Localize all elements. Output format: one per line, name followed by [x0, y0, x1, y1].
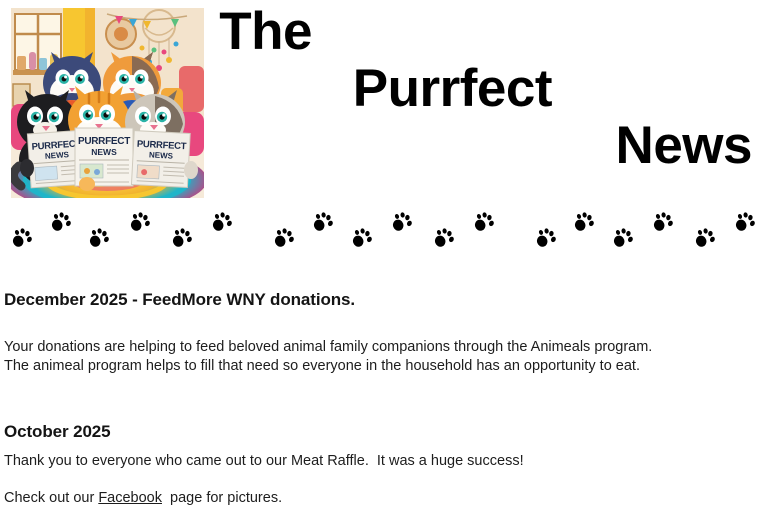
newspaper-right: PURRFECT NEWS	[131, 131, 190, 188]
article-heading: October 2025	[4, 422, 763, 442]
paw-print-icon	[212, 212, 234, 233]
link-line-prefix: Check out our	[4, 490, 98, 506]
svg-text:NEWS: NEWS	[45, 150, 70, 161]
paw-print-icon	[12, 228, 34, 249]
hero-photo-illustration: PURRFECT NEWS PURRFECT NEWS	[11, 8, 204, 198]
paw-print-divider	[0, 204, 767, 264]
paw-print-icon	[313, 212, 335, 233]
paw-print-icon	[392, 212, 414, 233]
masthead: PURRFECT NEWS PURRFECT NEWS	[0, 0, 767, 200]
paw-print-icon	[613, 228, 635, 249]
paw-print-icon	[536, 228, 558, 249]
article-link-line: Check out our Facebook page for pictures…	[4, 489, 763, 508]
masthead-title-line-3: News	[210, 120, 760, 172]
svg-text:NEWS: NEWS	[149, 150, 174, 160]
newspaper-center: PURRFECT NEWS	[75, 128, 133, 186]
masthead-title: The Purrfect News	[210, 6, 760, 172]
article-heading: December 2025 - FeedMore WNY donations.	[4, 290, 763, 310]
newsletter-content: December 2025 - FeedMore WNY donations. …	[0, 290, 767, 508]
article-paragraph: Thank you to everyone who came out to ou…	[4, 452, 763, 471]
paw-print-icon	[51, 212, 73, 233]
article-december-2025: December 2025 - FeedMore WNY donations. …	[0, 290, 767, 376]
paw-print-icon	[274, 228, 296, 249]
facebook-link[interactable]: Facebook	[98, 490, 162, 506]
masthead-title-line-2: Purrfect	[210, 63, 760, 115]
paw-print-icon	[434, 228, 456, 249]
paw-print-icon	[89, 228, 111, 249]
hero-photo-cats-reading-news: PURRFECT NEWS PURRFECT NEWS	[11, 8, 204, 198]
paw-print-icon	[130, 212, 152, 233]
paw-print-icon	[352, 228, 374, 249]
paw-print-icon	[172, 228, 194, 249]
paw-print-icon	[695, 228, 717, 249]
svg-text:PURRFECT: PURRFECT	[78, 136, 130, 147]
article-october-2025: October 2025 Thank you to everyone who c…	[0, 422, 767, 508]
svg-text:NEWS: NEWS	[91, 147, 117, 157]
paw-print-icon	[574, 212, 596, 233]
paw-print-icon	[735, 212, 757, 233]
masthead-title-line-1: The	[210, 6, 760, 58]
link-line-suffix: page for pictures.	[162, 490, 282, 506]
paw-print-icon	[653, 212, 675, 233]
article-paragraph: Your donations are helping to feed belov…	[4, 338, 763, 376]
paw-print-icon	[474, 212, 496, 233]
